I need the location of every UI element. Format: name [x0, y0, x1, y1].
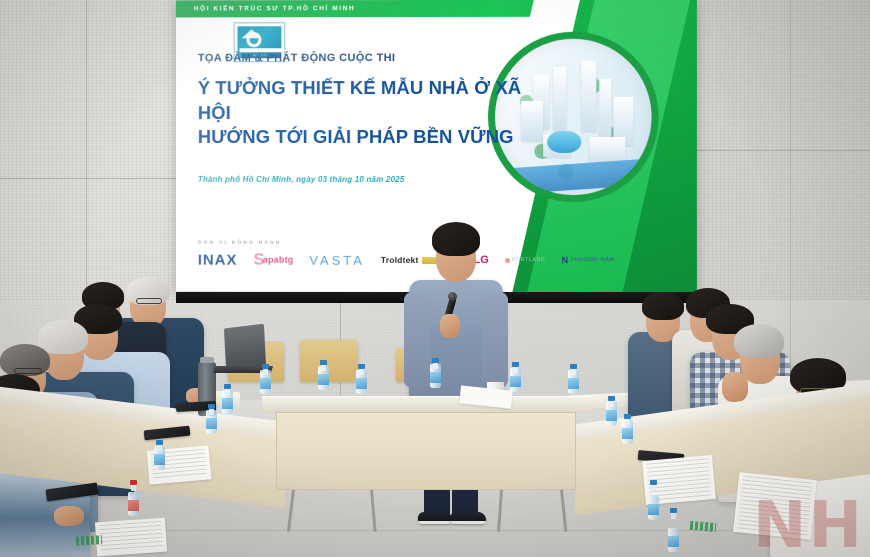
water-bottle [206, 404, 217, 434]
water-bottle [318, 360, 329, 390]
table-center-surface [262, 396, 592, 412]
water-bottle [648, 480, 662, 520]
slide-kicker: TỌA ĐÀM & PHÁT ĐỘNG CUỘC THI [198, 52, 396, 64]
glasses-icon [136, 298, 162, 304]
sponsor-logo-apabtg-text: apabtg [263, 255, 294, 265]
water-bottle [510, 362, 521, 392]
slide-banner-text: HỘI KIẾN TRÚC SƯ TP.HỒ CHÍ MINH [194, 5, 355, 12]
wall-seam [696, 150, 870, 151]
photo-scene: HỘI KIẾN TRÚC SƯ TP.HỒ CHÍ MINH HỘI KTS [0, 0, 870, 557]
water-bottle [622, 414, 633, 444]
slide-title-line-2: HƯỚNG TỚI GIẢI PHÁP BỀN VỮNG [198, 125, 557, 150]
document-sheet [95, 518, 167, 557]
water-bottle [430, 358, 441, 388]
wall-seam [86, 0, 87, 300]
water-bottle [668, 508, 683, 552]
slide-date: Thành phố Hồ Chí Minh, ngày 03 tháng 10 … [198, 175, 405, 184]
water-bottle [356, 364, 367, 394]
speaker-shoe-left [418, 512, 452, 524]
sponsor-logo-troldtekt-text: Troldtekt [381, 255, 419, 265]
sponsor-logo-phuongnam: N PHUONG NAM [562, 255, 615, 265]
glasses-icon [14, 368, 42, 374]
sponsor-logo-portland-text: PORTLAND [512, 257, 546, 263]
wall-seam [790, 0, 791, 420]
sponsor-logo-phuongnam-text: PHUONG NAM [571, 257, 615, 263]
attendee-hair [642, 292, 684, 320]
sponsor-logo-troldtekt: Troldtekt [381, 255, 444, 265]
sponsor-logo-vasta: VASTA [309, 252, 365, 267]
attendee-hair [734, 324, 784, 358]
water-bottle [606, 396, 617, 426]
table-center-panel [276, 412, 576, 490]
portland-dot-mark [505, 258, 510, 263]
slide-title: Ý TƯỞNG THIẾT KẾ MẪU NHÀ Ở XÃ HỘI HƯỚNG … [198, 76, 557, 150]
phuongnam-n-mark: N [562, 255, 569, 265]
sponsor-logo-apabtg: S apabtg [253, 250, 293, 270]
water-bottle [222, 384, 233, 414]
speaker-arm-left [404, 292, 430, 388]
document-sheet [733, 472, 817, 540]
sponsor-logo-row: INAX S apabtg VASTA Troldtekt LG PORTLAN… [198, 249, 668, 272]
attendee-hand [54, 506, 84, 526]
water-bottle [154, 440, 165, 470]
water-bottle [260, 364, 271, 394]
water-bottle [128, 480, 141, 516]
speaker-hair [432, 222, 480, 256]
attendee-hand [722, 372, 748, 402]
attendee-hair [38, 320, 88, 354]
speaker-shoe-right [450, 512, 486, 524]
sponsor-logo-portland: PORTLAND [505, 257, 546, 263]
speaker-arm-right [482, 292, 508, 388]
chair [300, 340, 358, 382]
slide-title-line-1: Ý TƯỞNG THIẾT KẾ MẪU NHÀ Ở XÃ HỘI [198, 76, 557, 125]
wall-seam [0, 178, 178, 179]
document-green-logo [76, 535, 103, 546]
microphone-head [448, 292, 457, 301]
water-bottle [568, 364, 579, 394]
speaker-hand [440, 314, 460, 338]
sponsor-logo-inax: INAX [198, 251, 238, 268]
